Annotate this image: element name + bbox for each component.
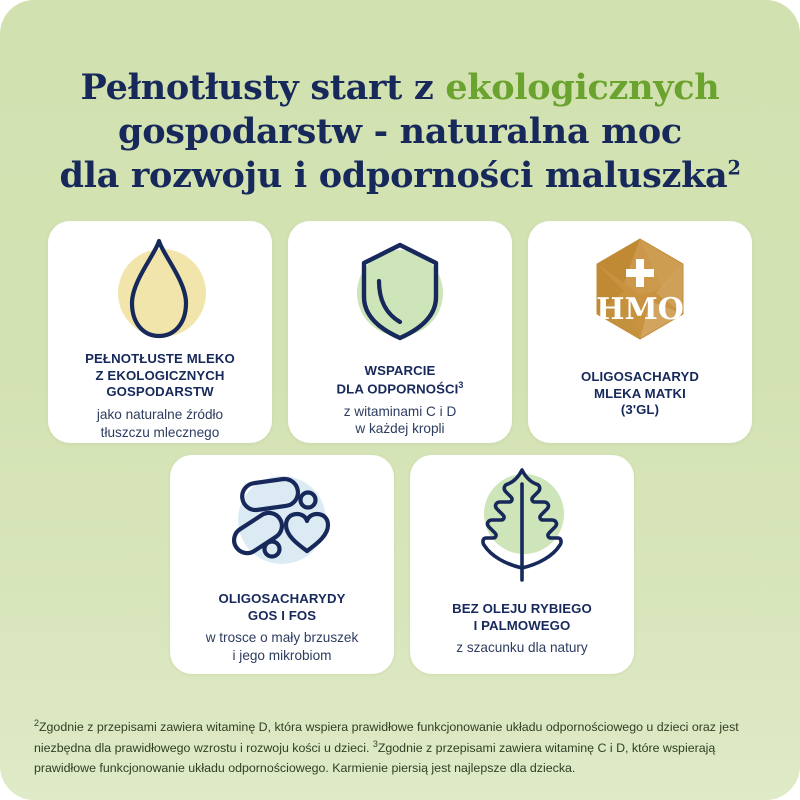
heading-line2: gospodarstw - naturalna moc <box>40 110 760 154</box>
promo-panel: Pełnotłusty start z ekologicznych gospod… <box>0 0 800 800</box>
card-subtitle: w trosce o mały brzuszek i jego mikrobio… <box>196 629 369 664</box>
feature-card-milk[interactable]: PEŁNOTŁUSTE MLEKO Z EKOLOGICZNYCH GOSPOD… <box>48 221 272 443</box>
leaf-icon <box>410 463 634 581</box>
card-title-line: GOS I FOS <box>248 608 316 623</box>
heading-line3-text: dla rozwoju i odporności maluszka <box>59 155 727 196</box>
card-subtitle-line: i jego mikrobiom <box>233 648 332 663</box>
hmo-label: HMO <box>596 292 684 327</box>
card-title: BEZ OLEJU RYBIEGO I PALMOWEGO <box>442 601 602 634</box>
card-title-line: PEŁNOTŁUSTE MLEKO <box>85 351 235 366</box>
heading-line1-accent: ekologicznych <box>445 67 719 108</box>
card-title-line: Z EKOLOGICZNYCH <box>96 368 225 383</box>
milk-drop-icon <box>48 229 272 349</box>
card-title-line: MLEKA MATKI <box>594 386 686 401</box>
footnote-disclaimer: 2Zgodnie z przepisami zawiera witaminę D… <box>34 716 766 779</box>
heading-footnote-marker: 2 <box>727 157 740 180</box>
feature-card-immunity[interactable]: WSPARCIE DLA ODPORNOŚCI3 z witaminami C … <box>288 221 512 443</box>
card-title-line: OLIGOSACHARYD <box>581 369 699 384</box>
card-subtitle-line: z witaminami C i D <box>344 404 457 419</box>
shield-icon <box>288 229 512 349</box>
card-subtitle: z witaminami C i D w każdej kropli <box>334 403 467 438</box>
card-subtitle-line: w trosce o mały brzuszek <box>206 630 359 645</box>
card-title-line: (3'GL) <box>621 402 659 417</box>
card-subtitle-line: jako naturalne źródło <box>97 407 223 422</box>
feature-card-no-oils[interactable]: BEZ OLEJU RYBIEGO I PALMOWEGO z szacunku… <box>410 455 634 674</box>
card-title-line: WSPARCIE <box>365 363 436 378</box>
card-title-line: DLA ODPORNOŚCI <box>337 381 459 396</box>
hmo-hexagon-icon: HMO <box>528 229 752 349</box>
card-title: PEŁNOTŁUSTE MLEKO Z EKOLOGICZNYCH GOSPOD… <box>75 351 245 401</box>
card-title-line: I PALMOWEGO <box>474 618 571 633</box>
card-subtitle: z szacunku dla natury <box>446 639 597 657</box>
card-subtitle-line: z szacunku dla natury <box>456 640 587 655</box>
feature-card-hmo[interactable]: HMO OLIGOSACHARYD MLEKA MATKI (3'GL) <box>528 221 752 443</box>
card-title: OLIGOSACHARYDY GOS I FOS <box>209 591 356 624</box>
microbiome-icon <box>170 463 394 581</box>
heading-line1-plain: Pełnotłusty start z <box>81 67 446 108</box>
card-title-line: OLIGOSACHARYDY <box>219 591 346 606</box>
card-subtitle-line: w każdej kropli <box>355 421 444 436</box>
heading-line3: dla rozwoju i odporności maluszka2 <box>40 154 760 198</box>
card-subtitle: jako naturalne źródło tłuszczu mlecznego <box>87 406 233 441</box>
card-title-line: BEZ OLEJU RYBIEGO <box>452 601 592 616</box>
card-subtitle-line: tłuszczu mlecznego <box>101 425 220 440</box>
card-title: OLIGOSACHARYD MLEKA MATKI (3'GL) <box>571 369 709 419</box>
page-title: Pełnotłusty start z ekologicznych gospod… <box>40 66 760 198</box>
card-footnote-marker: 3 <box>458 380 463 390</box>
card-title: WSPARCIE DLA ODPORNOŚCI3 <box>327 363 474 398</box>
feature-card-microbiome[interactable]: OLIGOSACHARYDY GOS I FOS w trosce o mały… <box>170 455 394 674</box>
card-title-line: GOSPODARSTW <box>106 384 213 399</box>
